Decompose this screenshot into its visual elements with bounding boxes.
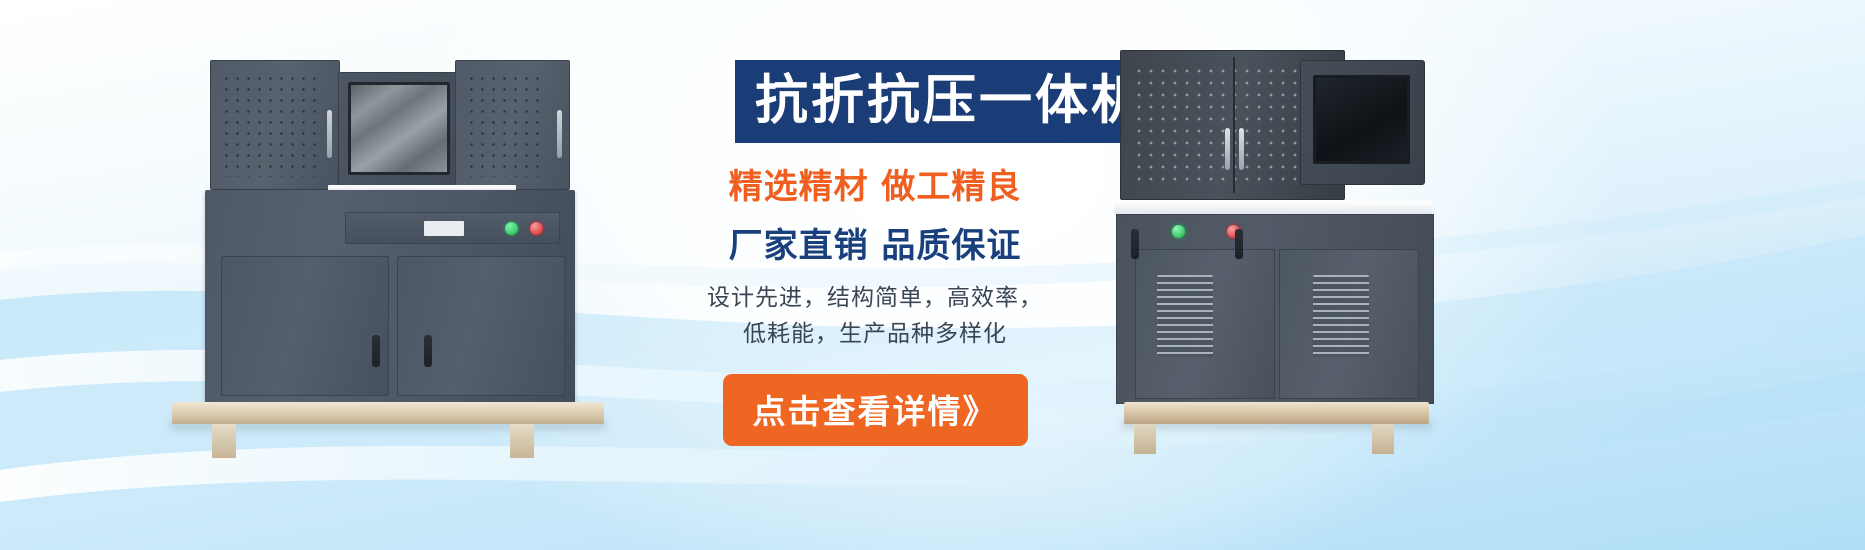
- banner-description: 设计先进，结构简单，高效率， 低耗能，生产品种多样化: [640, 281, 1110, 352]
- cabinet-handle: [1239, 128, 1244, 170]
- cabinet-handle: [557, 110, 562, 158]
- perforation-pattern: [221, 73, 317, 177]
- banner-subtitle-blue: 厂家直销 品质保证: [640, 218, 1110, 267]
- banner-title: 抗折抗压一体机: [735, 60, 1167, 143]
- cabinet-door-right: [397, 256, 565, 396]
- door-handle: [1235, 229, 1243, 259]
- ventilation-louver: [1313, 275, 1369, 357]
- indicator-light-green: [505, 222, 518, 235]
- ventilation-louver: [1157, 275, 1213, 357]
- left-machine-perforated-cabinet: [210, 60, 340, 190]
- right-machine-monitor: [1300, 60, 1425, 185]
- door-handle: [1131, 229, 1139, 259]
- product-image-left: [150, 40, 610, 435]
- control-drawer: [345, 212, 560, 244]
- wooden-pallet: [172, 402, 604, 424]
- product-image-right: [1110, 38, 1530, 438]
- pallet-leg: [212, 424, 236, 458]
- cabinet-handle: [1225, 128, 1230, 170]
- promo-banner: 抗折抗压一体机 精选精材 做工精良 厂家直销 品质保证 设计先进，结构简单，高效…: [0, 0, 1865, 550]
- banner-copy-block: 抗折抗压一体机 精选精材 做工精良 厂家直销 品质保证 设计先进，结构简单，高效…: [640, 60, 1110, 500]
- monitor-screen: [1313, 75, 1410, 164]
- description-line-1: 设计先进，结构简单，高效率，: [640, 281, 1110, 317]
- door-handle: [372, 335, 380, 367]
- banner-subtitle-orange: 精选精材 做工精良: [640, 159, 1110, 208]
- door-handle: [424, 335, 432, 367]
- view-details-button[interactable]: 点击查看详情》: [723, 374, 1028, 446]
- pallet-leg: [1372, 424, 1394, 454]
- pallet-leg: [510, 424, 534, 458]
- cabinet-door-left: [221, 256, 389, 396]
- left-machine-base-cabinet: [205, 190, 575, 405]
- cabinet-handle: [327, 110, 332, 158]
- cabinet-door-divider: [1233, 57, 1235, 193]
- indicator-light-green: [1172, 225, 1185, 238]
- name-plate: [424, 221, 464, 236]
- perforation-pattern: [466, 73, 547, 177]
- right-machine-base-cabinet: [1116, 214, 1434, 404]
- indicator-light-red: [530, 222, 543, 235]
- wooden-pallet: [1124, 402, 1429, 424]
- left-machine-monitor: [338, 72, 463, 192]
- white-shelf-strip: [1114, 201, 1432, 214]
- monitor-screen: [348, 82, 450, 175]
- description-line-2: 低耗能，生产品种多样化: [640, 317, 1110, 353]
- pallet-leg: [1134, 424, 1156, 454]
- left-machine-perforated-cabinet-2: [455, 60, 570, 190]
